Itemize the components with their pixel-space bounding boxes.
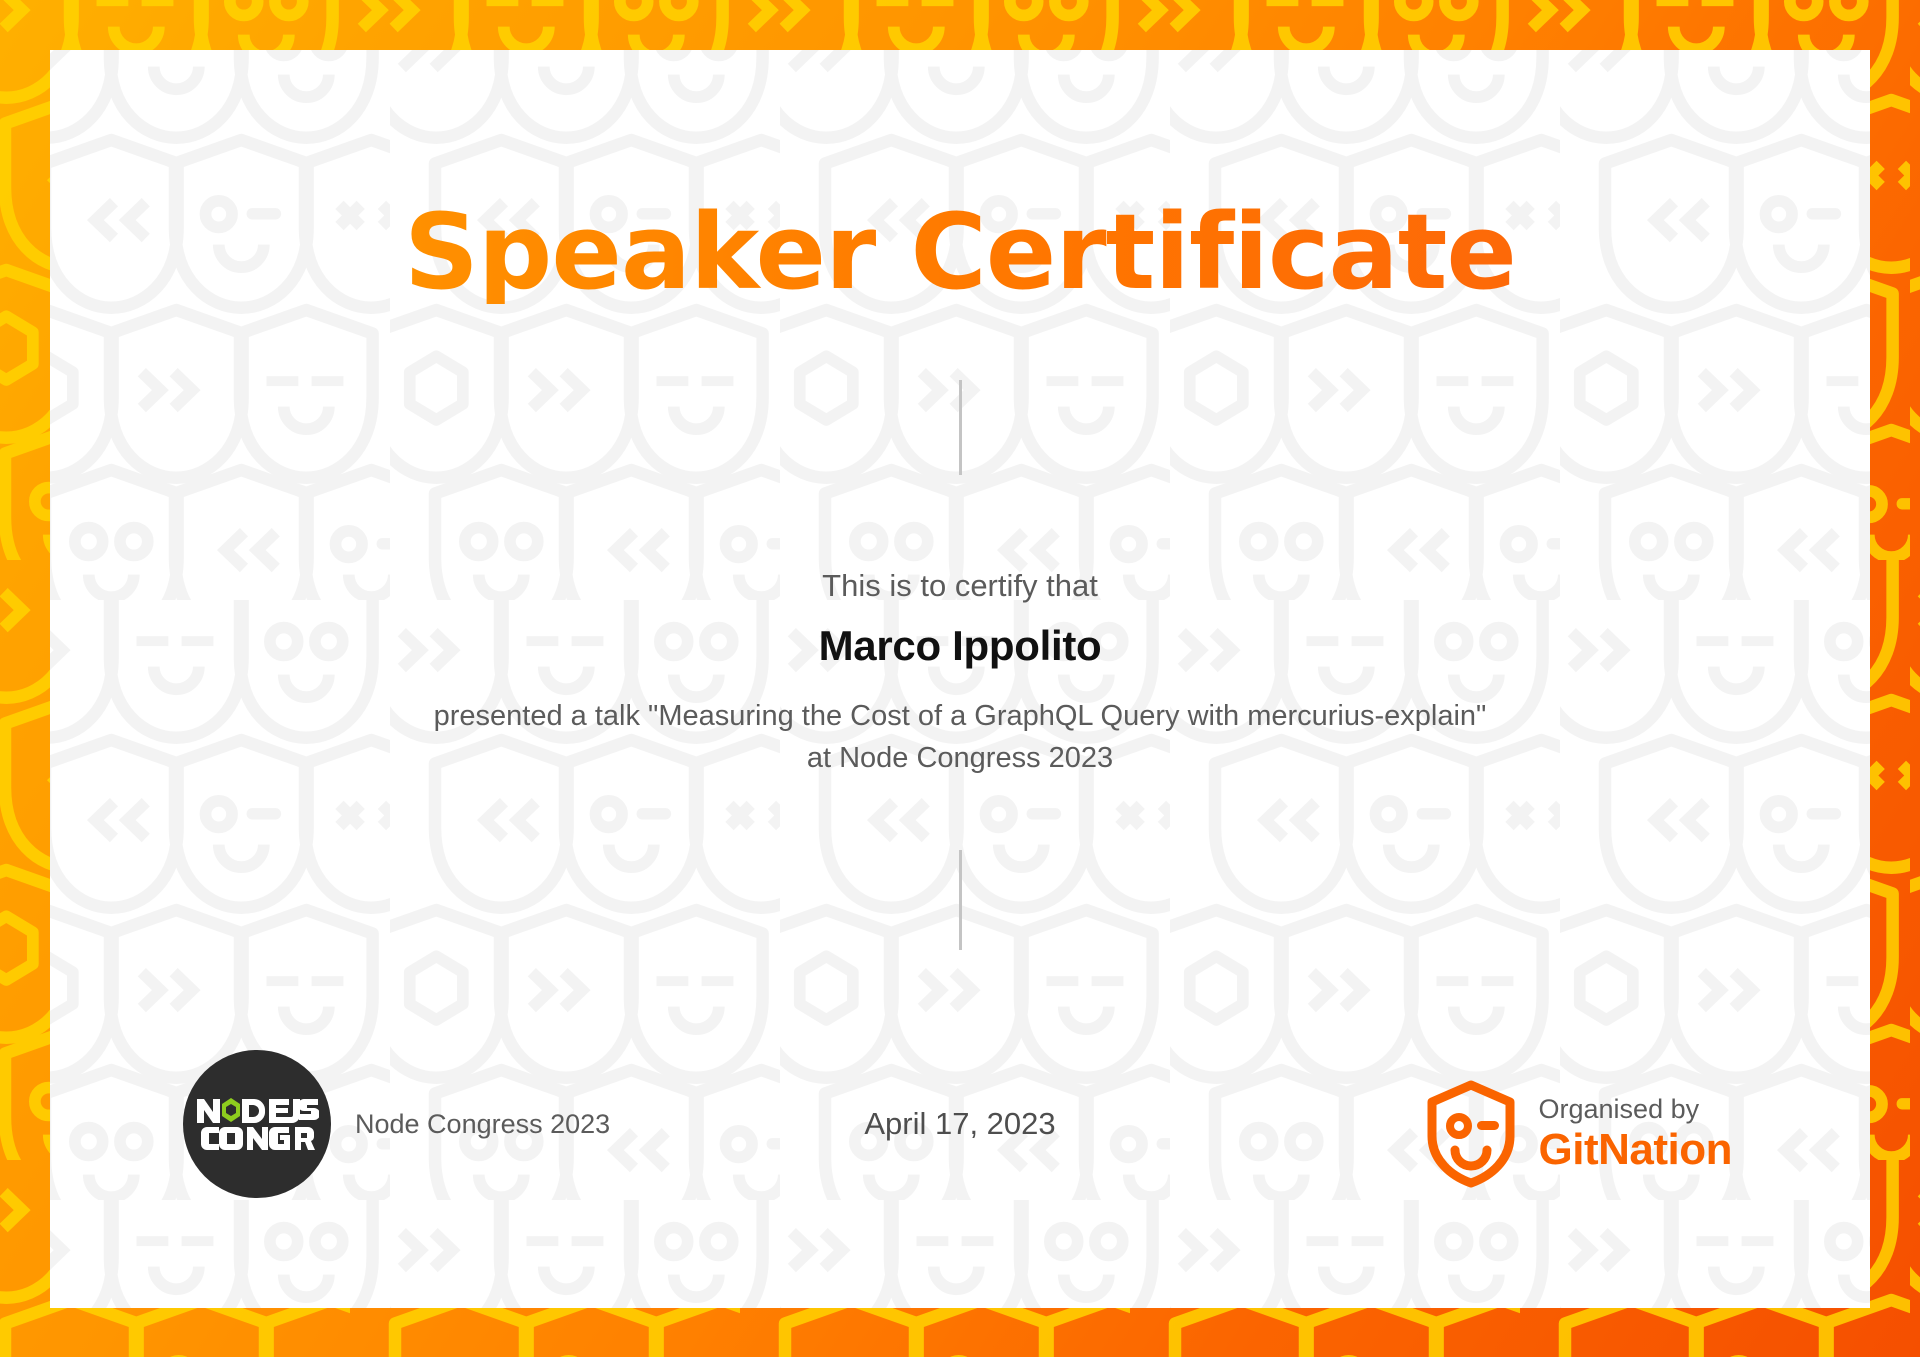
recipient-name: Marco Ippolito <box>50 622 1870 670</box>
divider-bottom <box>959 850 962 950</box>
certificate-footer: NODEJS CONGRESS Node Congress 2023 April… <box>50 1050 1870 1210</box>
nodejs-congress-logo-icon: NODEJS CONGRESS <box>183 1050 331 1198</box>
talk-description: presented a talk "Measuring the Cost of … <box>190 696 1730 780</box>
organised-by-label: Organised by <box>1539 1095 1732 1123</box>
certificate-card: Speaker Certificate This is to certify t… <box>50 50 1870 1308</box>
issue-date: April 17, 2023 <box>864 1106 1055 1142</box>
organiser-block: Organised by GitNation <box>1425 1080 1732 1188</box>
speaker-certificate: Speaker Certificate This is to certify t… <box>0 0 1920 1357</box>
page-title: Speaker Certificate <box>50 200 1870 304</box>
divider-top <box>959 380 962 475</box>
nodejs-congress-wordmark-icon <box>195 1095 319 1153</box>
certify-line: This is to certify that <box>50 568 1870 604</box>
event-block: NODEJS CONGRESS Node Congress 2023 <box>183 1050 610 1198</box>
talk-event-line: at Node Congress 2023 <box>190 738 1730 780</box>
organiser-text: Organised by GitNation <box>1539 1095 1732 1174</box>
green-hexagon-icon <box>222 1098 240 1122</box>
talk-title-line: presented a talk "Measuring the Cost of … <box>190 696 1730 738</box>
gitnation-shield-face-icon <box>1425 1080 1517 1188</box>
card-content: Speaker Certificate This is to certify t… <box>50 50 1870 1308</box>
event-name: Node Congress 2023 <box>355 1109 610 1140</box>
organiser-name: GitNation <box>1539 1127 1732 1173</box>
